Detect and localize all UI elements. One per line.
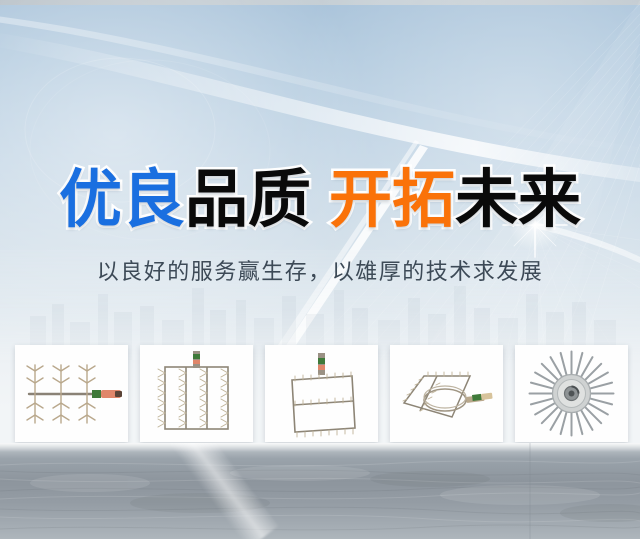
starburst-icon	[515, 345, 628, 442]
headline-segment-orange: 开拓	[329, 163, 455, 236]
ring-plate-icon	[390, 345, 503, 442]
comb-rack-icon	[15, 345, 128, 442]
product-card-frame-rack[interactable]	[265, 345, 378, 442]
product-card-starburst[interactable]	[515, 345, 628, 442]
headline: 优良品质开拓未来	[0, 165, 640, 235]
headline-segment-black-2: 未来	[455, 163, 581, 236]
headline-segment-blue: 优良	[59, 163, 185, 236]
ground-surface	[0, 443, 640, 539]
top-edge-strip	[0, 0, 640, 5]
promo-banner: 优良品质开拓未来 以良好的服务赢生存，以雄厚的技术求发展	[0, 0, 640, 539]
subtitle: 以良好的服务赢生存，以雄厚的技术求发展	[0, 258, 640, 288]
product-card-comb-rack[interactable]	[15, 345, 128, 442]
headline-segment-black-1: 品质	[185, 163, 311, 236]
ground-texture	[0, 443, 640, 539]
product-card-row	[0, 345, 640, 444]
spike-rack-icon	[140, 345, 253, 442]
product-card-spike-rack[interactable]	[140, 345, 253, 442]
frame-rack-icon	[265, 345, 378, 442]
product-card-ring-plate[interactable]	[390, 345, 503, 442]
